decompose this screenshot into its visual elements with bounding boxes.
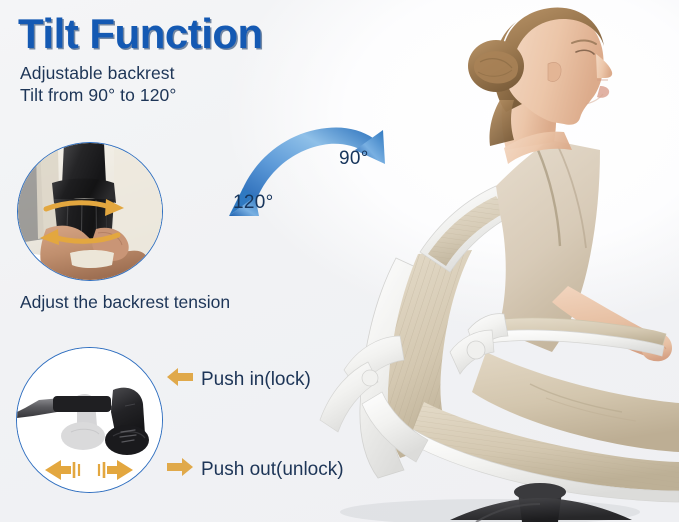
inset-tension-caption: Adjust the backrest tension bbox=[20, 292, 230, 313]
inset-tension-knob bbox=[17, 142, 163, 281]
callout-push-out: Push out(unlock) bbox=[166, 456, 344, 483]
subtitle-line-2: Tilt from 90° to 120° bbox=[20, 85, 176, 106]
page-title: Tilt Function bbox=[18, 13, 263, 55]
angle-label-90: 90° bbox=[339, 148, 369, 170]
arrow-right-icon bbox=[166, 456, 194, 483]
product-photo bbox=[300, 0, 679, 522]
inset-tilt-lever bbox=[16, 347, 163, 493]
subtitle-line-1: Adjustable backrest bbox=[20, 63, 175, 84]
infographic-page: Tilt Function Adjustable backrest Tilt f… bbox=[0, 0, 679, 522]
callout-push-in: Push in(lock) bbox=[166, 366, 311, 393]
callout-push-in-label: Push in(lock) bbox=[201, 369, 311, 391]
arrow-left-icon bbox=[166, 366, 194, 393]
callout-push-out-label: Push out(unlock) bbox=[201, 459, 344, 481]
angle-label-120: 120° bbox=[233, 192, 274, 214]
